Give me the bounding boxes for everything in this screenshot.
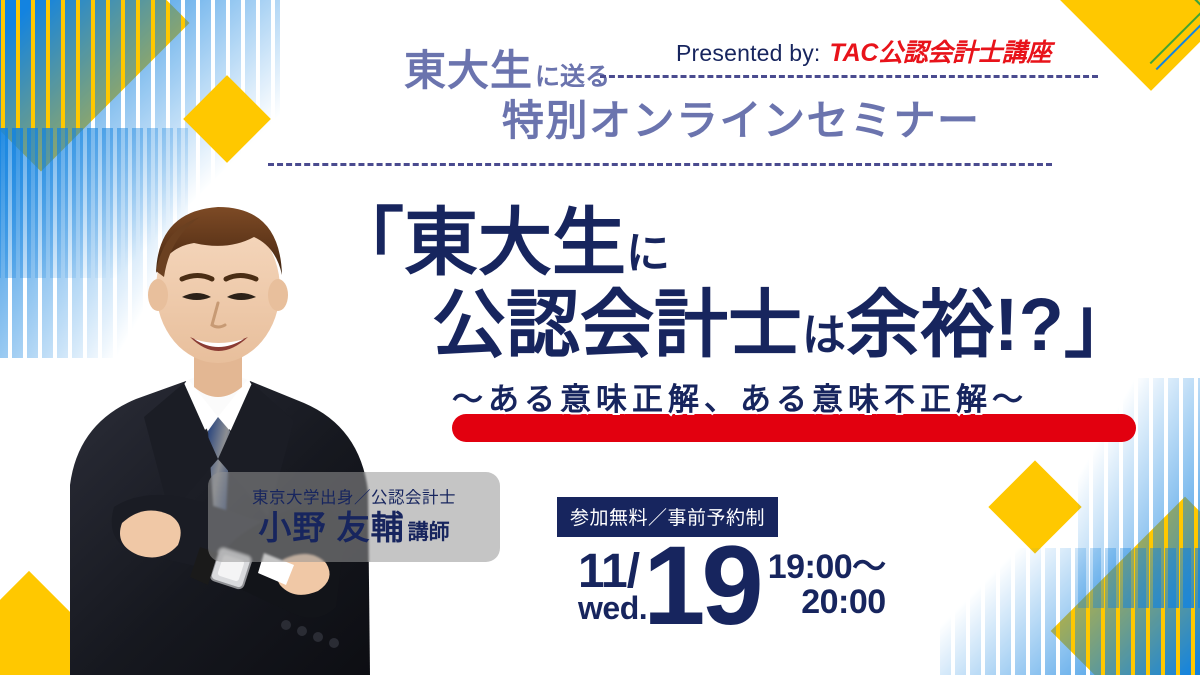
headline: 「東大生に 公認会計士は余裕!?」 <box>330 206 1160 362</box>
headline-open-bracket: 「 <box>330 201 404 284</box>
event-date-block: 11/ wed. 19 19:00〜 20:00 <box>578 540 886 632</box>
event-month: 11/ <box>578 550 639 594</box>
sponsor-logo-text: TAC公認会計士講座 <box>830 33 1052 69</box>
kicker-large: 東大生 <box>404 47 533 94</box>
kicker-line-2: 特別オンラインセミナー <box>502 100 981 142</box>
blue-dot-pattern-bottom-right <box>940 548 1200 675</box>
headline-line2-large-b: 余裕!? <box>846 283 1064 366</box>
speaker-name: 小野 友輔 <box>258 509 404 546</box>
event-weekday: wed. <box>578 594 647 623</box>
event-time-range: 19:00〜 20:00 <box>768 550 886 619</box>
headline-close-bracket: 」 <box>1064 283 1138 366</box>
event-time-start: 19:00〜 <box>768 550 886 585</box>
headline-line1-large: 東大生 <box>404 201 626 284</box>
event-day: 19 <box>643 540 760 632</box>
headline-line1-small: に <box>626 229 670 278</box>
speaker-role: 東京大学出身／公認会計士 <box>252 490 456 507</box>
kicker-line-1: 東大生に送る <box>404 50 610 92</box>
headline-line2-large-a: 公認会計士 <box>432 283 802 366</box>
chevron-line-blue-icon <box>1102 0 1200 70</box>
presented-by: Presented by: TAC公認会計士講座 <box>676 33 1051 69</box>
presented-by-label: Presented by: <box>676 40 821 67</box>
event-time-end: 20:00 <box>801 585 885 620</box>
headline-row-1: 「東大生に <box>330 206 1160 280</box>
yellow-diamond-right-mid <box>988 460 1081 553</box>
headline-line2-small: は <box>802 311 846 360</box>
chevron-line-green-icon <box>1096 0 1200 64</box>
headline-subtitle: 〜ある意味正解、ある意味不正解〜 <box>452 374 1028 419</box>
speaker-name-row: 小野 友輔講師 <box>258 511 449 544</box>
kicker-small: に送る <box>535 63 610 91</box>
event-month-weekday: 11/ wed. <box>578 550 647 624</box>
headline-row-2: 公認会計士は余裕!?」 <box>432 288 1160 362</box>
seminar-banner: Presented by: TAC公認会計士講座 東大生に送る 特別オンラインセ… <box>0 0 1200 675</box>
yellow-diamond-small-left <box>183 75 271 163</box>
blue-dot-pattern-right <box>1078 378 1200 608</box>
speaker-name-suffix: 講師 <box>408 521 450 544</box>
yellow-diamond-bottom-right <box>1051 497 1200 675</box>
dashed-rule-top <box>600 75 1098 78</box>
yellow-diamond-top-left <box>0 0 189 171</box>
speaker-nameplate: 東京大学出身／公認会計士 小野 友輔講師 <box>208 472 500 562</box>
